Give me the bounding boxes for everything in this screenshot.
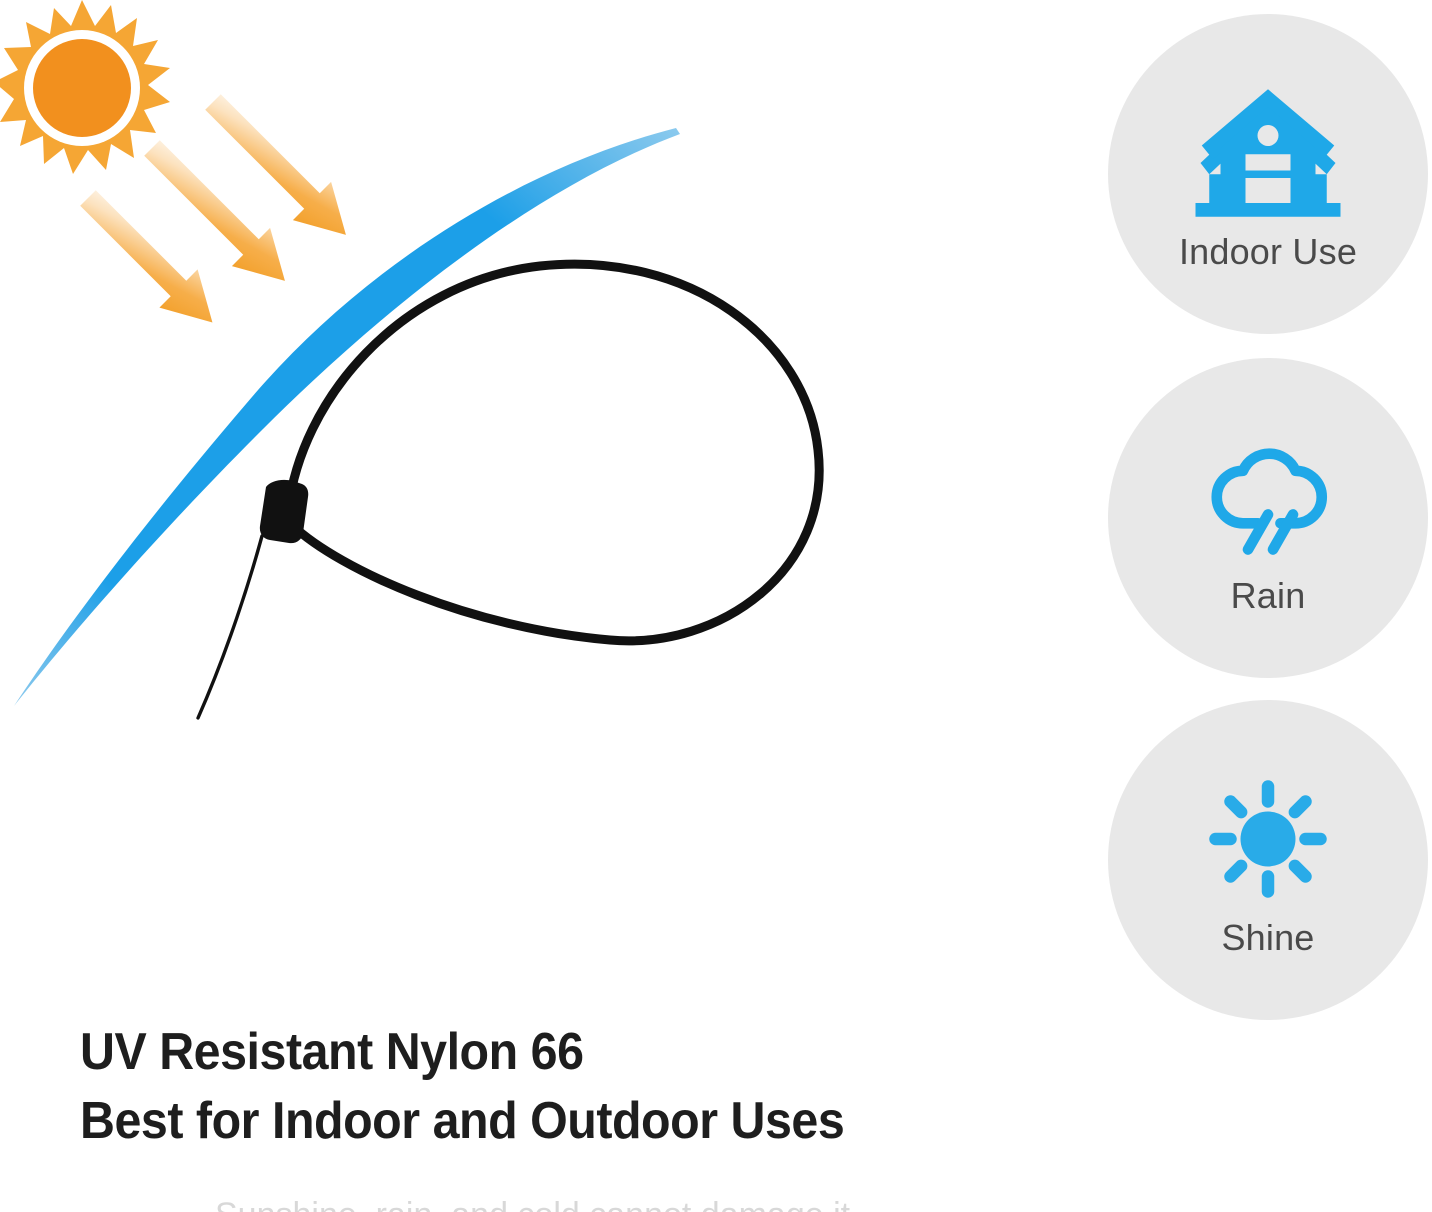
infographic-page: Indoor Use Rain: [0, 0, 1432, 1212]
badge-rain[interactable]: Rain: [1108, 358, 1428, 678]
rain-cloud-icon: [1193, 422, 1343, 572]
cable-tie-head: [260, 480, 308, 543]
badge-label-shine: Shine: [1221, 920, 1314, 956]
badge-label-rain: Rain: [1231, 578, 1306, 614]
cable-tie-icon: [198, 264, 819, 718]
headline-line-2: Best for Indoor and Outdoor Uses: [80, 1087, 973, 1156]
badge-label-indoor-use: Indoor Use: [1179, 234, 1357, 270]
badge-indoor-use[interactable]: Indoor Use: [1108, 14, 1428, 334]
cable-tie-tail: [198, 536, 262, 718]
feature-badge-column: Indoor Use Rain: [1100, 0, 1432, 1020]
house-icon: [1193, 78, 1343, 228]
cropped-caption-text: Sunshine, rain, and cold cannot damage i…: [215, 1198, 975, 1212]
badge-shine[interactable]: Shine: [1108, 700, 1428, 1020]
sun-burst-icon: [0, 0, 170, 174]
headline-block: UV Resistant Nylon 66 Best for Indoor an…: [80, 1018, 1040, 1155]
sun-icon: [1193, 764, 1343, 914]
sun-core: [33, 39, 131, 137]
product-illustration: [0, 0, 1090, 1000]
cropped-caption: Sunshine, rain, and cold cannot damage i…: [215, 1198, 975, 1212]
headline-line-1: UV Resistant Nylon 66: [80, 1018, 973, 1087]
